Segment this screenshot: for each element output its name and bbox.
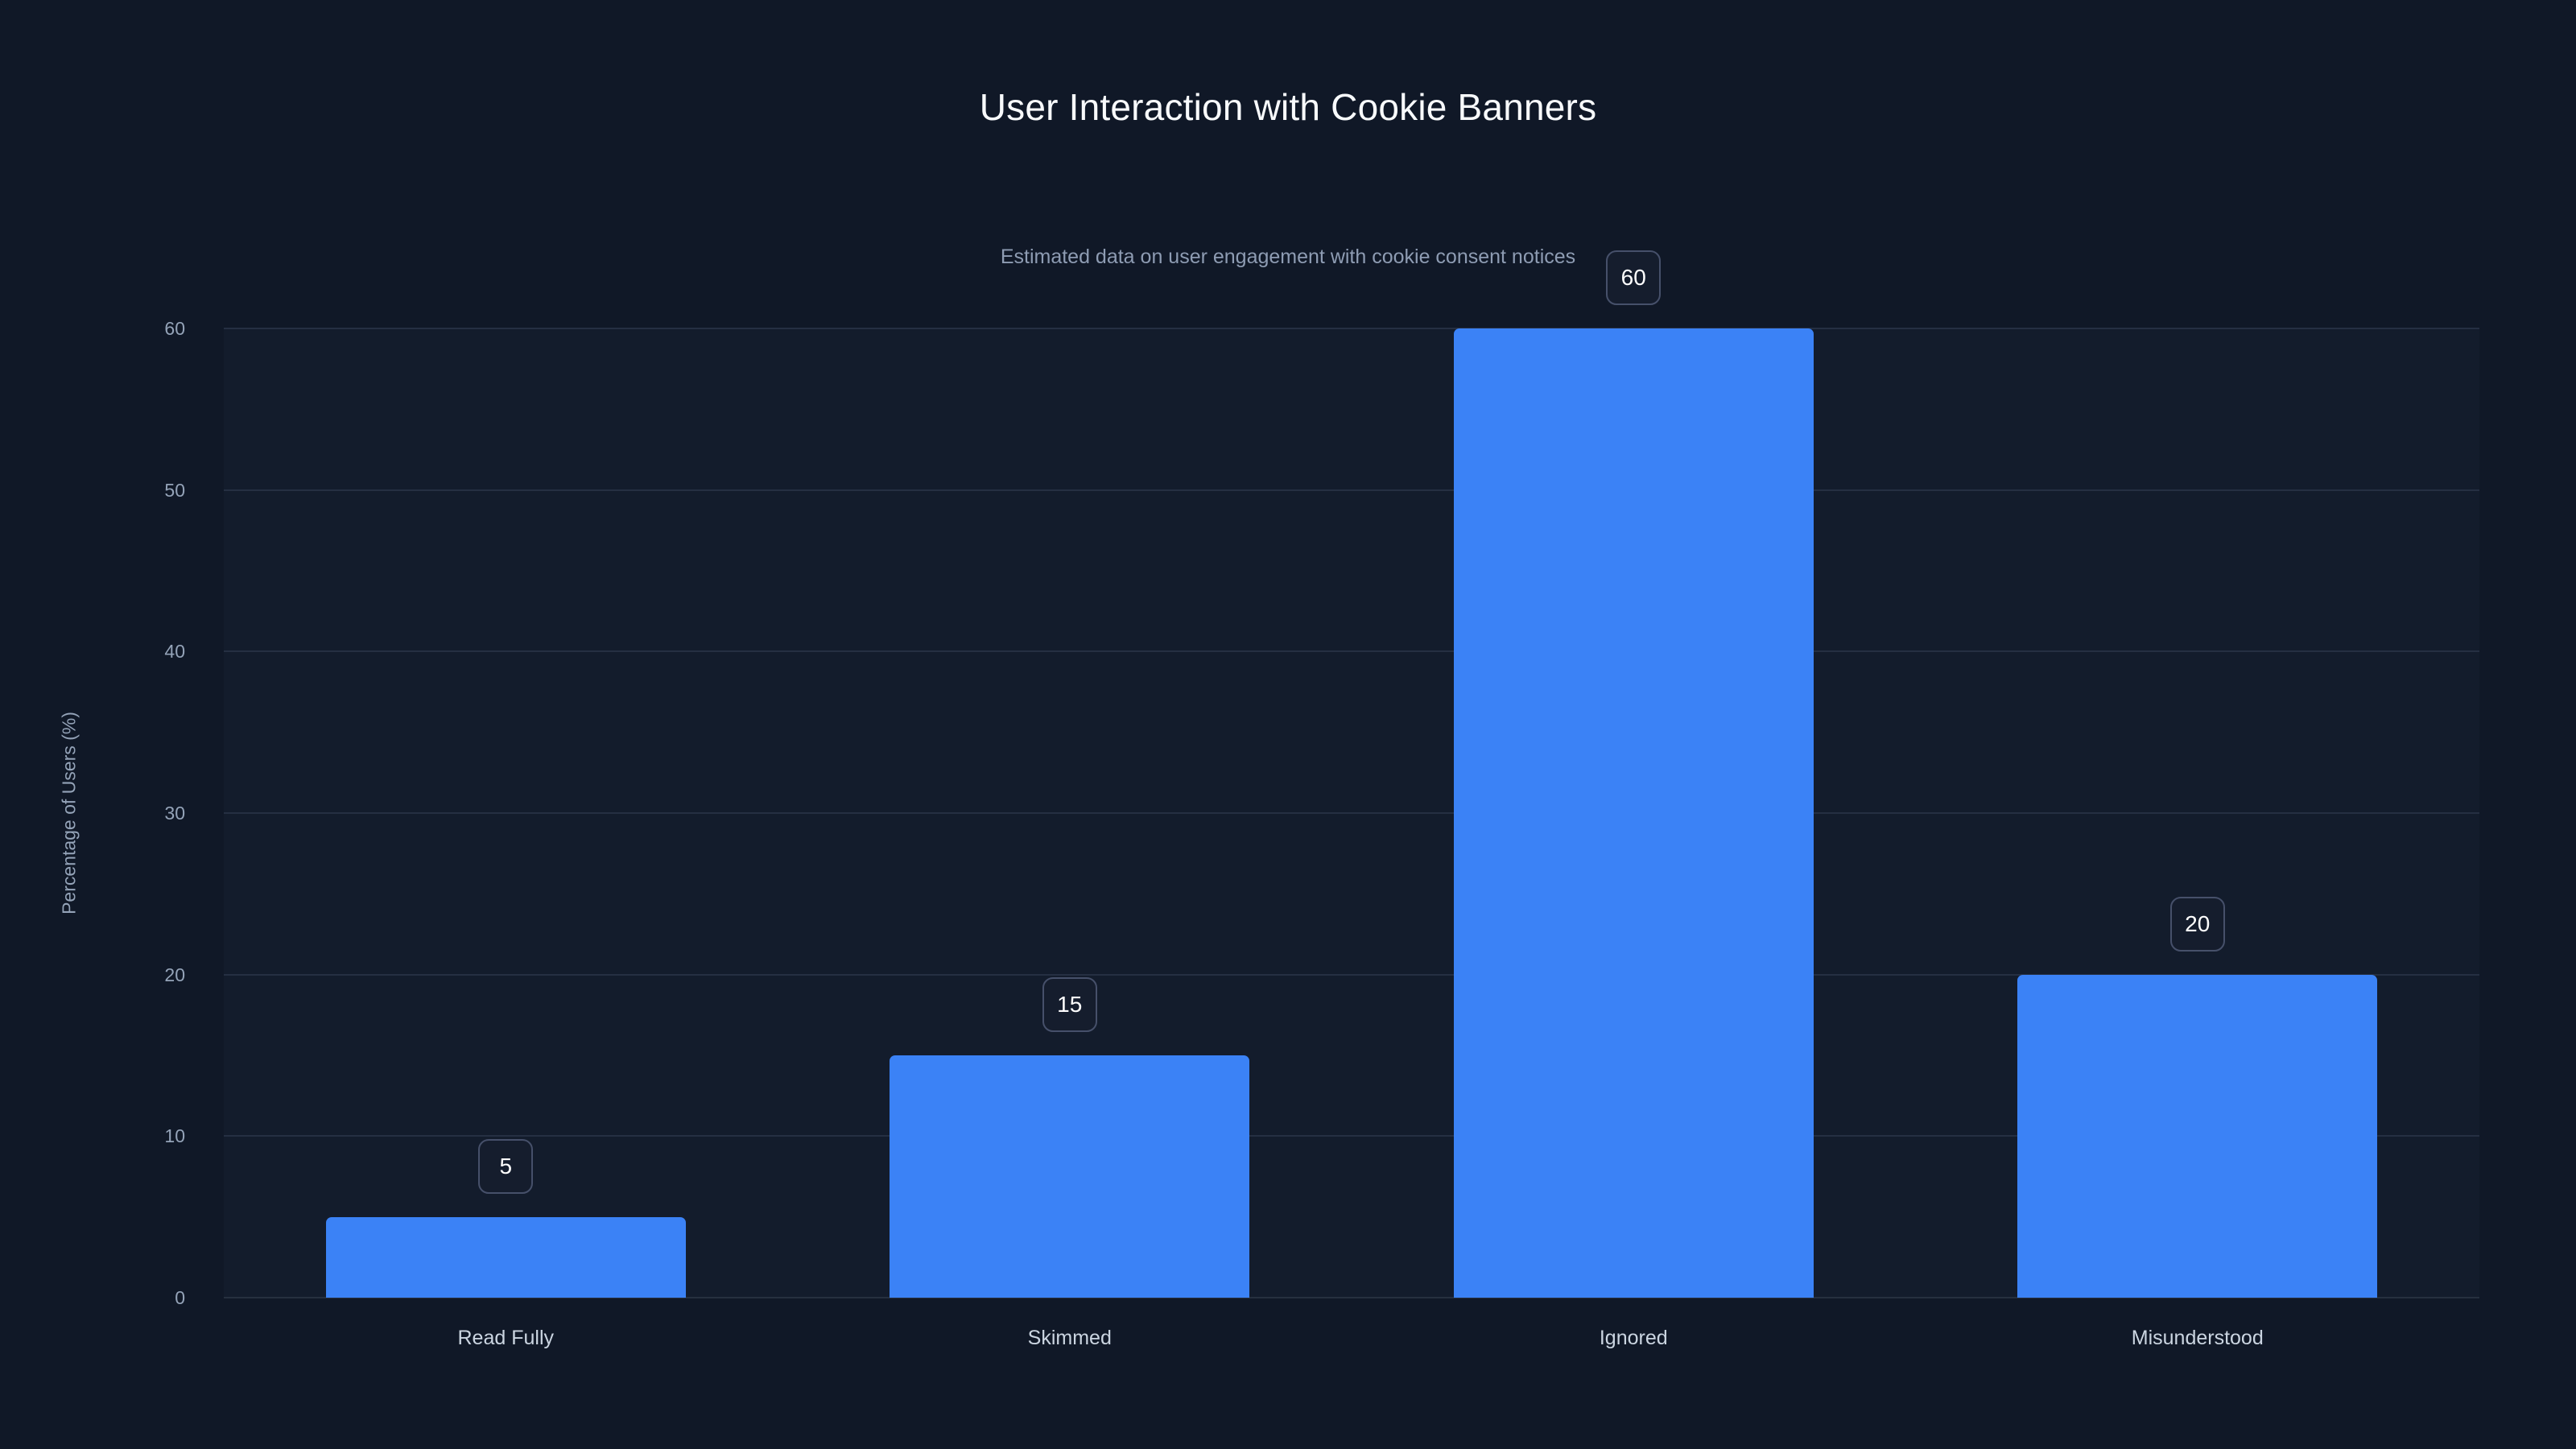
- y-axis-tick-label: 50: [80, 481, 185, 500]
- data-label-badge: 15: [1042, 977, 1097, 1032]
- x-axis-tick-label: Read Fully: [458, 1328, 555, 1348]
- chart-canvas: User Interaction with Cookie Banners Est…: [0, 0, 2576, 1449]
- y-axis-tick-label: 60: [80, 320, 185, 338]
- y-axis-tick-label: 10: [80, 1127, 185, 1146]
- y-axis-tick-label: 40: [80, 642, 185, 661]
- gridline: [224, 328, 2479, 329]
- x-axis-tick-label: Skimmed: [1028, 1328, 1112, 1348]
- gridline: [224, 650, 2479, 652]
- chart-subtitle: Estimated data on user engagement with c…: [0, 247, 2576, 267]
- gridline: [224, 489, 2479, 491]
- bar-skimmed[interactable]: [890, 1055, 1249, 1298]
- data-label-badge: 20: [2170, 897, 2225, 952]
- bar-read-fully[interactable]: [326, 1217, 686, 1298]
- bar-ignored[interactable]: [1454, 328, 1814, 1298]
- y-axis-tick-label: 20: [80, 966, 185, 985]
- x-axis-tick-label: Misunderstood: [2132, 1328, 2264, 1348]
- y-axis-tick-label: 0: [80, 1289, 185, 1307]
- data-label-badge: 5: [478, 1139, 533, 1194]
- chart-title: User Interaction with Cookie Banners: [0, 89, 2576, 126]
- bar-misunderstood[interactable]: [2017, 975, 2377, 1298]
- x-axis-tick-label: Ignored: [1600, 1328, 1668, 1348]
- data-label-badge: 60: [1606, 250, 1661, 305]
- y-axis-title: Percentage of Users (%): [60, 712, 79, 914]
- plot-area: [224, 328, 2479, 1298]
- gridline: [224, 812, 2479, 814]
- y-axis-tick-label: 30: [80, 804, 185, 823]
